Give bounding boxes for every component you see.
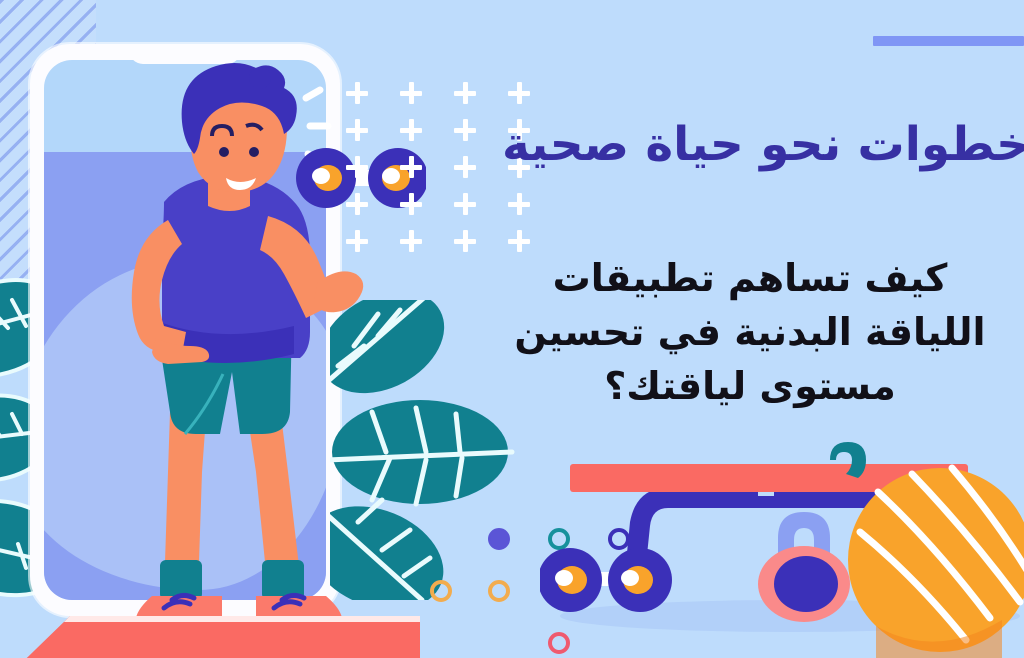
accent-bar-decoration xyxy=(873,36,1024,46)
circle-icon xyxy=(488,580,510,602)
plus-icon xyxy=(400,82,422,104)
plus-icon xyxy=(346,193,368,215)
floor-mat-illustration xyxy=(0,604,420,658)
left-eye xyxy=(219,147,229,157)
circle-icon xyxy=(488,528,510,550)
plus-icon xyxy=(400,156,422,178)
subtitle-line-1: كيف تساهم تطبيقات xyxy=(478,252,1022,306)
plus-icon xyxy=(346,156,368,178)
right-eye xyxy=(249,147,259,157)
plus-icon xyxy=(508,82,530,104)
plus-icon xyxy=(346,230,368,252)
hair-tuft xyxy=(249,67,271,89)
circle-icon xyxy=(430,580,452,602)
plus-icon xyxy=(508,230,530,252)
gym-equipment-illustration xyxy=(540,440,1024,658)
plus-icon xyxy=(454,230,476,252)
plus-icon xyxy=(400,230,422,252)
kettlebell-pink xyxy=(758,512,850,622)
subtitle-line-3: مستوى لياقتك؟ xyxy=(478,360,1022,414)
plus-icon xyxy=(454,193,476,215)
plus-icon xyxy=(346,119,368,141)
poster-canvas: خطوات نحو حياة صحية كيف تساهم تطبيقات ال… xyxy=(0,0,1024,658)
page-title: خطوات نحو حياة صحية xyxy=(470,118,1024,173)
plus-icon xyxy=(400,193,422,215)
plus-icon xyxy=(346,82,368,104)
plus-icon xyxy=(400,119,422,141)
floor-dumbbell xyxy=(540,548,672,612)
plus-icon xyxy=(454,82,476,104)
plus-icon xyxy=(508,193,530,215)
page-subtitle: كيف تساهم تطبيقات اللياقة البدنية في تحس… xyxy=(470,252,1022,414)
subtitle-line-2: اللياقة البدنية في تحسين xyxy=(478,306,1022,360)
